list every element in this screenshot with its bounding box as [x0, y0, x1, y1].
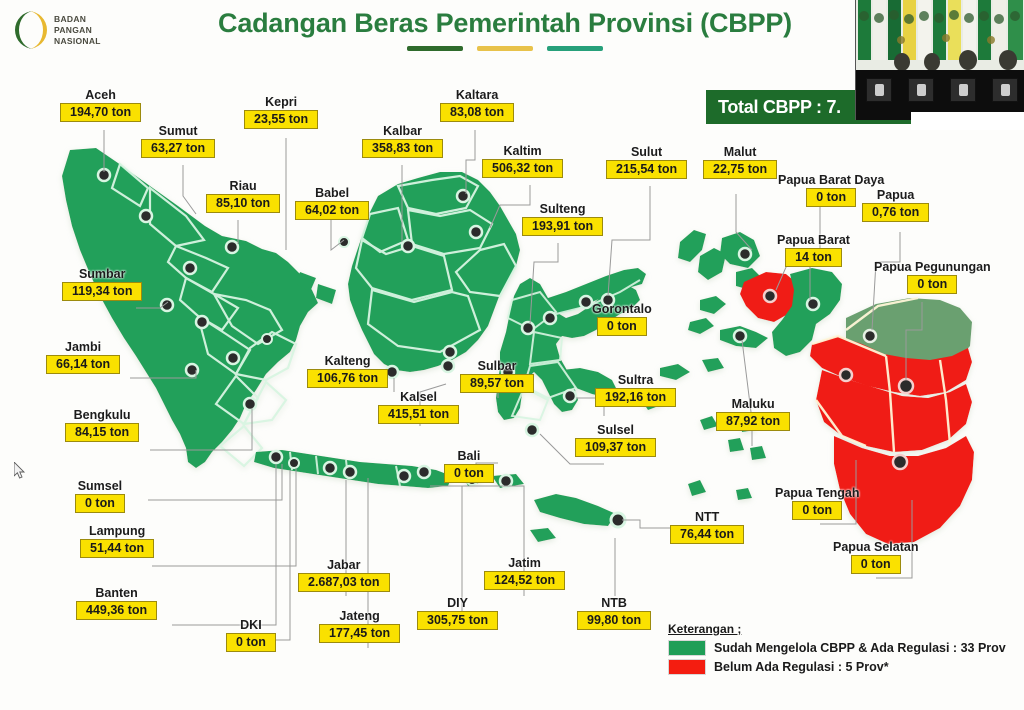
province-name: Sultra [618, 373, 653, 387]
province-name: Bali [457, 449, 480, 463]
province-value-badge: 192,16 ton [595, 388, 676, 407]
province-name: Jatim [508, 556, 541, 570]
province-label-diy: DIY305,75 ton [417, 596, 498, 630]
province-label-kalsel: Kalsel415,51 ton [378, 390, 459, 424]
province-value-badge: 177,45 ton [319, 624, 400, 643]
video-conference-feed[interactable] [855, 0, 1024, 120]
map-legend: Keterangan ; Sudah Mengelola CBPP & Ada … [668, 622, 1006, 678]
province-label-ntt: NTT76,44 ton [670, 510, 744, 544]
province-label-sumbar: Sumbar119,34 ton [62, 267, 142, 301]
province-name: Maluku [732, 397, 775, 411]
province-name: Papua Pegunungan [874, 260, 991, 274]
province-name: Papua [877, 188, 915, 202]
province-value-badge: 87,92 ton [716, 412, 790, 431]
province-value-badge: 89,57 ton [460, 374, 534, 393]
province-name: Malut [724, 145, 757, 159]
province-value-badge: 84,15 ton [65, 423, 139, 442]
province-value-badge: 2.687,03 ton [298, 573, 390, 592]
presentation-slide: BADAN PANGAN NASIONAL Cadangan Beras Pem… [0, 0, 1024, 710]
province-name: Sulut [631, 145, 662, 159]
province-name: Sumbar [79, 267, 126, 281]
province-value-badge: 0 ton [226, 633, 276, 652]
province-label-kalbar: Kalbar358,83 ton [362, 124, 443, 158]
province-value-badge: 358,83 ton [362, 139, 443, 158]
province-label-gorontalo: Gorontalo0 ton [592, 302, 652, 336]
province-label-papua-pegunungan: Papua Pegunungan0 ton [874, 260, 991, 294]
total-cbpp-label: Total CBPP : 7. [718, 97, 841, 118]
province-name: DKI [240, 618, 262, 632]
province-name: Babel [315, 186, 349, 200]
province-name: Sumsel [78, 479, 122, 493]
province-label-sulbar: Sulbar89,57 ton [460, 359, 534, 393]
legend-row: Belum Ada Regulasi : 5 Prov* [668, 659, 1006, 675]
province-label-lampung: Lampung51,44 ton [80, 524, 154, 558]
province-name: Bengkulu [74, 408, 131, 422]
province-value-badge: 0 ton [75, 494, 125, 513]
legend-label: Belum Ada Regulasi : 5 Prov* [714, 660, 889, 674]
province-label-kepri: Kepri23,55 ton [244, 95, 318, 129]
province-label-sumut: Sumut63,27 ton [141, 124, 215, 158]
province-label-bengkulu: Bengkulu84,15 ton [65, 408, 139, 442]
province-value-badge: 305,75 ton [417, 611, 498, 630]
desk-monitor-1 [866, 78, 892, 102]
province-value-badge: 0 ton [907, 275, 957, 294]
province-value-badge: 23,55 ton [244, 110, 318, 129]
province-name: NTB [601, 596, 627, 610]
province-value-badge: 215,54 ton [606, 160, 687, 179]
province-value-badge: 415,51 ton [378, 405, 459, 424]
province-name: NTT [695, 510, 719, 524]
legend-label: Sudah Mengelola CBPP & Ada Regulasi : 33… [714, 641, 1006, 655]
province-name: DIY [447, 596, 468, 610]
province-label-ntb: NTB99,80 ton [577, 596, 651, 630]
province-name: Sulbar [478, 359, 517, 373]
province-name: Gorontalo [592, 302, 652, 316]
province-value-badge: 0 ton [792, 501, 842, 520]
province-value-badge: 76,44 ton [670, 525, 744, 544]
province-label-malut: Malut22,75 ton [703, 145, 777, 179]
province-label-jambi: Jambi66,14 ton [46, 340, 120, 374]
province-label-papua: Papua0,76 ton [862, 188, 929, 222]
province-value-badge: 506,32 ton [482, 159, 563, 178]
province-name: Aceh [85, 88, 116, 102]
legend-rows: Sudah Mengelola CBPP & Ada Regulasi : 33… [668, 640, 1006, 675]
province-value-badge: 66,14 ton [46, 355, 120, 374]
province-label-aceh: Aceh194,70 ton [60, 88, 141, 122]
pip-lower-mask [911, 112, 1024, 130]
province-value-badge: 51,44 ton [80, 539, 154, 558]
legend-row: Sudah Mengelola CBPP & Ada Regulasi : 33… [668, 640, 1006, 656]
province-label-papua-selatan: Papua Selatan0 ton [833, 540, 918, 574]
province-value-badge: 64,02 ton [295, 201, 369, 220]
province-name: Lampung [89, 524, 145, 538]
province-name: Banten [95, 586, 137, 600]
province-name: Jambi [65, 340, 101, 354]
province-value-badge: 22,75 ton [703, 160, 777, 179]
province-value-badge: 0,76 ton [862, 203, 929, 222]
province-value-badge: 99,80 ton [577, 611, 651, 630]
province-value-badge: 193,91 ton [522, 217, 603, 236]
province-label-jatim: Jatim124,52 ton [484, 556, 565, 590]
flags-backdrop [856, 0, 1024, 78]
province-label-babel: Babel64,02 ton [295, 186, 369, 220]
province-value-badge: 0 ton [597, 317, 647, 336]
province-value-badge: 106,76 ton [307, 369, 388, 388]
province-name: Kalbar [383, 124, 422, 138]
province-value-badge: 0 ton [806, 188, 856, 207]
province-name: Jabar [327, 558, 360, 572]
province-label-maluku: Maluku87,92 ton [716, 397, 790, 431]
province-name: Papua Barat [777, 233, 850, 247]
legend-swatch-red [668, 659, 706, 675]
province-value-badge: 194,70 ton [60, 103, 141, 122]
province-value-badge: 14 ton [785, 248, 842, 267]
province-value-badge: 109,37 ton [575, 438, 656, 457]
province-name: Jateng [339, 609, 379, 623]
province-name: Riau [230, 179, 257, 193]
province-label-sultra: Sultra192,16 ton [595, 373, 676, 407]
province-name: Kalsel [400, 390, 437, 404]
desk-monitor-2 [908, 78, 934, 102]
province-label-jateng: Jateng177,45 ton [319, 609, 400, 643]
province-label-kalteng: Kalteng106,76 ton [307, 354, 388, 388]
province-label-bali: Bali0 ton [444, 449, 494, 483]
province-name: Papua Tengah [775, 486, 860, 500]
province-name: Kepri [265, 95, 297, 109]
province-value-badge: 63,27 ton [141, 139, 215, 158]
province-label-sulut: Sulut215,54 ton [606, 145, 687, 179]
desk-monitor-4 [992, 78, 1018, 102]
desk-monitor-3 [950, 78, 976, 102]
province-name: Papua Selatan [833, 540, 918, 554]
province-value-badge: 85,10 ton [206, 194, 280, 213]
province-label-sulsel: Sulsel109,37 ton [575, 423, 656, 457]
province-label-kaltara: Kaltara83,08 ton [440, 88, 514, 122]
legend-title: Keterangan ; [668, 622, 1006, 636]
province-name: Kaltim [503, 144, 541, 158]
province-value-badge: 124,52 ton [484, 571, 565, 590]
province-value-badge: 119,34 ton [62, 282, 142, 301]
province-label-riau: Riau85,10 ton [206, 179, 280, 213]
province-label-jabar: Jabar2.687,03 ton [298, 558, 390, 592]
province-name: Sulteng [540, 202, 586, 216]
mouse-cursor [14, 462, 26, 480]
province-value-badge: 0 ton [444, 464, 494, 483]
province-name: Kaltara [456, 88, 498, 102]
province-name: Sumut [159, 124, 198, 138]
province-name: Sulsel [597, 423, 634, 437]
province-name: Papua Barat Daya [778, 173, 884, 187]
legend-swatch-green [668, 640, 706, 656]
province-value-badge: 0 ton [851, 555, 901, 574]
province-label-dki: DKI0 ton [226, 618, 276, 652]
province-label-sumsel: Sumsel0 ton [75, 479, 125, 513]
province-label-papua-barat: Papua Barat14 ton [777, 233, 850, 267]
province-label-banten: Banten449,36 ton [76, 586, 157, 620]
province-name: Kalteng [325, 354, 371, 368]
province-label-kaltim: Kaltim506,32 ton [482, 144, 563, 178]
province-label-papua-tengah: Papua Tengah0 ton [775, 486, 860, 520]
province-label-sulteng: Sulteng193,91 ton [522, 202, 603, 236]
province-value-badge: 83,08 ton [440, 103, 514, 122]
province-value-badge: 449,36 ton [76, 601, 157, 620]
